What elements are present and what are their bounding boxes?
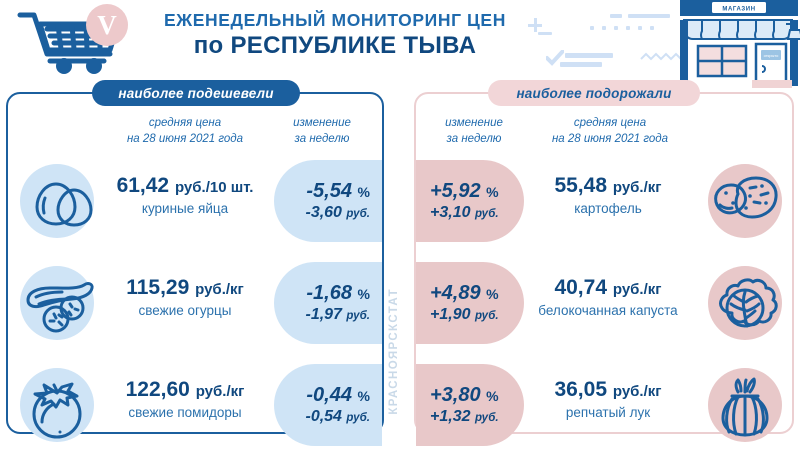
price-value: 36,05 [554,378,607,401]
change-absolute-value: +1,90 [430,306,470,323]
svg-text:открыто: открыто [764,53,780,58]
column-header-average-price: средняя цена на 28 июня 2021 года [94,116,276,147]
column-header-weekly-change-line1: изменение [422,116,526,132]
change-percent-value: +3,80 [430,384,481,406]
change-absolute-line: +1,90 руб. [430,306,499,324]
column-header-average-price-line1: средняя цена [94,116,276,132]
page-title-line1: ЕЖЕНЕДЕЛЬНЫЙ МОНИТОРИНГ ЦЕН [140,10,530,30]
percent-symbol: % [358,286,370,302]
column-header-weekly-change-line2: за неделю [422,132,526,148]
change-percent-line: -1,68 % [306,282,370,305]
price-unit: руб./кг [613,383,662,400]
change-percent-line: +5,92 % [430,180,499,203]
table-row: 61,42 руб./10 шт. куриные яйца -5,54 % -… [8,152,382,250]
panel-cheapest-title: наиболее подешевели [92,80,300,106]
price-value: 61,42 [117,174,170,197]
column-header-average-price-line1: средняя цена [512,116,708,132]
column-header-weekly-change: изменение за неделю [270,116,374,147]
change-absolute-line: -0,54 руб. [305,408,370,426]
change-badge: +3,80 % +1,32 руб. [416,364,524,446]
price-block: 36,05 руб./кг репчатый лук [510,378,706,421]
change-absolute-unit: руб. [346,412,370,424]
price-value-line: 40,74 руб./кг [510,276,706,299]
price-unit: руб./кг [613,179,662,196]
percent-symbol: % [486,286,498,302]
change-absolute-value: -0,54 [305,408,341,425]
change-absolute-value: +1,32 [430,408,470,425]
cabbage-icon [702,260,788,346]
price-value-line: 55,48 руб./кг [510,174,706,197]
change-percent-value: -5,54 [306,180,352,202]
column-header-average-price-line2: на 28 июня 2021 года [94,132,276,148]
change-absolute-unit: руб. [346,208,370,220]
price-value: 55,48 [554,174,607,197]
price-unit: руб./кг [195,281,244,298]
change-absolute-line: -3,60 руб. [305,204,370,222]
price-block: 55,48 руб./кг картофель [510,174,706,217]
table-row: 115,29 руб./кг свежие огурцы -1,68 % -1,… [8,254,382,352]
change-absolute-value: -3,60 [305,204,341,221]
percent-symbol: % [486,184,498,200]
percent-symbol: % [358,388,370,404]
panel-cheapest: наиболее подешевели средняя цена на 28 и… [6,92,384,434]
price-value-line: 115,29 руб./кг [94,276,276,299]
table-row: +5,92 % +3,10 руб. 55,48 руб./кг картофе… [416,152,792,250]
panel-most-expensive: наиболее подорожали изменение за неделю … [414,92,794,434]
change-percent-value: +4,89 [430,282,481,304]
onion-icon [702,362,788,448]
price-unit: руб./кг [613,281,662,298]
change-percent-line: -5,54 % [306,180,370,203]
change-absolute-line: +1,32 руб. [430,408,499,426]
price-value-line: 61,42 руб./10 шт. [94,174,276,197]
change-absolute-unit: руб. [475,310,499,322]
percent-symbol: % [486,388,498,404]
change-absolute-unit: руб. [475,412,499,424]
column-header-weekly-change-line2: за неделю [270,132,374,148]
product-name: картофель [510,201,706,217]
infographic-page: V ЕЖЕНЕДЕЛЬНЫЙ МОНИТОРИНГ ЦЕН по РЕСПУБЛ… [0,0,800,450]
change-badge: -1,68 % -1,97 руб. [274,262,382,344]
page-title-line2: по РЕСПУБЛИКЕ ТЫВА [140,32,530,60]
price-unit: руб./кг [196,383,245,400]
svg-text:МАГАЗИН: МАГАЗИН [722,7,755,13]
price-value: 122,60 [126,378,190,401]
price-block: 115,29 руб./кг свежие огурцы [94,276,276,319]
price-value-line: 122,60 руб./кг [94,378,276,401]
product-name: свежие огурцы [94,303,276,319]
product-name: куриные яйца [94,201,276,217]
change-percent-line: +4,89 % [430,282,499,305]
column-header-weekly-change: изменение за неделю [422,116,526,147]
change-absolute-line: +3,10 руб. [430,204,499,222]
change-percent-value: -0,44 [306,384,352,406]
price-block: 40,74 руб./кг белокочанная капуста [510,276,706,319]
price-block: 122,60 руб./кг свежие помидоры [94,378,276,421]
change-percent-line: +3,80 % [430,384,499,407]
change-percent-value: +5,92 [430,180,481,202]
change-badge: +5,92 % +3,10 руб. [416,160,524,242]
cucumber-icon [14,260,100,346]
product-name: свежие помидоры [94,405,276,421]
tomato-icon [14,362,100,448]
column-header-weekly-change-line1: изменение [270,116,374,132]
change-badge: +4,89 % +1,90 руб. [416,262,524,344]
product-name: белокочанная капуста [510,303,706,319]
change-absolute-unit: руб. [475,208,499,220]
change-absolute-line: -1,97 руб. [305,306,370,324]
table-row: +4,89 % +1,90 руб. 40,74 руб./кг белокоч… [416,254,792,352]
column-header-average-price-line2: на 28 июня 2021 года [512,132,708,148]
change-absolute-unit: руб. [346,310,370,322]
panel-most-expensive-title: наиболее подорожали [488,80,700,106]
price-value: 115,29 [126,276,189,299]
change-absolute-value: +3,10 [430,204,470,221]
table-row: +3,80 % +1,32 руб. 36,05 руб./кг репчаты… [416,356,792,450]
product-name: репчатый лук [510,405,706,421]
storefront-icon: МАГАЗИН [660,0,800,88]
change-percent-line: -0,44 % [306,384,370,407]
potato-icon [702,158,788,244]
header: V ЕЖЕНЕДЕЛЬНЫЙ МОНИТОРИНГ ЦЕН по РЕСПУБЛ… [0,0,800,80]
change-badge: -5,54 % -3,60 руб. [274,160,382,242]
watermark-text: КРАСНОЯРСКСТАТ [388,288,400,415]
price-block: 61,42 руб./10 шт. куриные яйца [94,174,276,217]
percent-symbol: % [358,184,370,200]
price-value: 40,74 [554,276,607,299]
price-value-line: 36,05 руб./кг [510,378,706,401]
column-header-average-price: средняя цена на 28 июня 2021 года [512,116,708,147]
price-unit: руб./10 шт. [175,179,253,196]
change-badge: -0,44 % -0,54 руб. [274,364,382,446]
page-title: ЕЖЕНЕДЕЛЬНЫЙ МОНИТОРИНГ ЦЕН по РЕСПУБЛИК… [140,10,530,60]
change-absolute-value: -1,97 [305,306,341,323]
table-row: 122,60 руб./кг свежие помидоры -0,44 % -… [8,356,382,450]
eggs-icon [14,158,100,244]
change-percent-value: -1,68 [306,282,352,304]
checkmark-v-icon: V [86,4,128,46]
